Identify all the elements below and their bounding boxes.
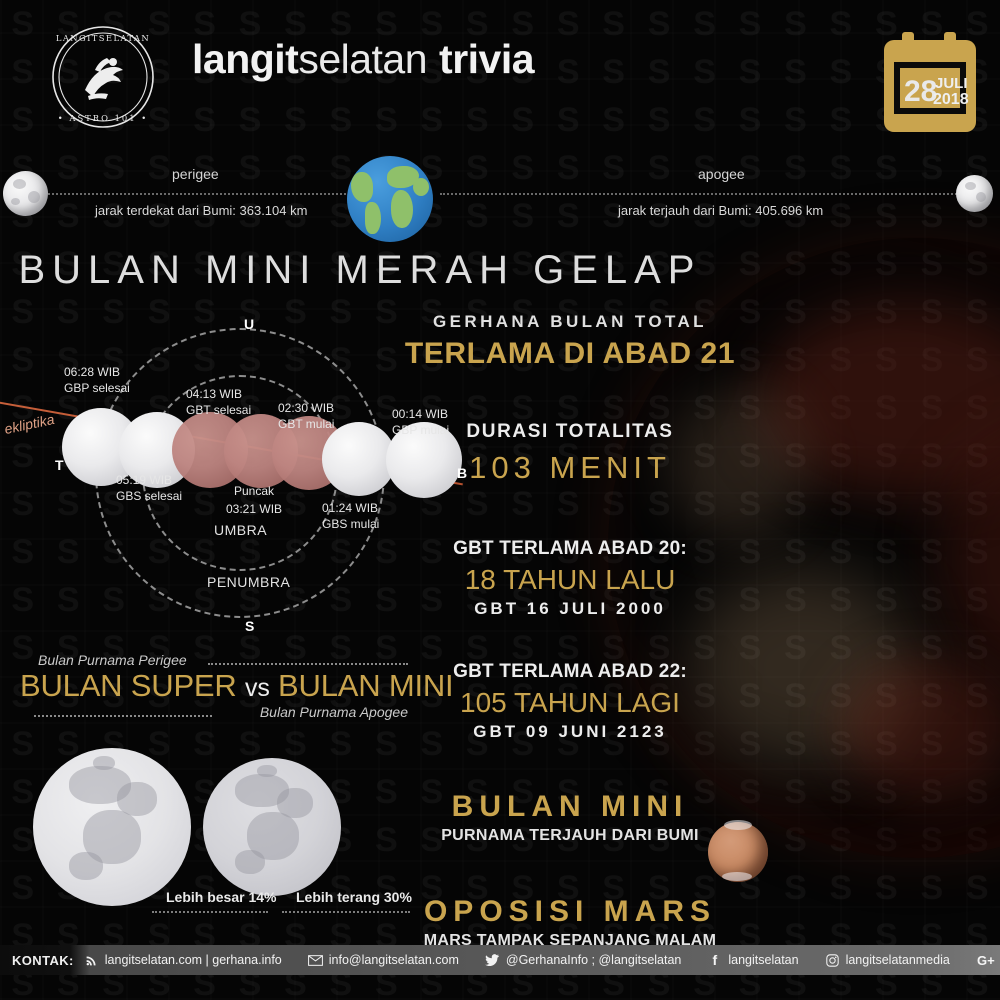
main-headline: BULAN MINI MERAH GELAP [0,248,720,293]
apogee-label: apogee [698,166,745,182]
fact-mini-moon: BULAN MINI PURNAMA TERJAUH DARI BUMI [400,790,740,845]
moon-icon-apogee [956,175,993,212]
title-bold: langit [192,36,298,82]
title-light: selatan [298,36,427,82]
header: LANGITSELATAN • ASTRO 101 • langitselata… [0,0,1000,150]
caption-gbs-selesai: 05:19 WIB GBS selesai [116,472,182,504]
supermoon-disc [33,748,191,906]
footer-facebook-text: langitselatan [728,953,798,967]
apogee-distance: jarak terjauh dari Bumi: 405.696 km [618,203,823,218]
svg-text:• ASTRO 101 •: • ASTRO 101 • [58,113,148,123]
time-gbs-selesai: 05:19 WIB [116,472,182,488]
fact5-sub: PURNAMA TERJAUH DARI BUMI [400,827,740,845]
kontak-label: KONTAK: [0,953,74,968]
super-vs-mini-section: Bulan Purnama Perigee BULAN SUPER vs BUL… [20,652,420,720]
caption-dash-top [208,663,408,665]
caption-gbp-selesai: 06:28 WIB GBP selesai [64,364,130,396]
orbit-line-right [440,193,960,195]
instagram-icon [825,954,840,967]
footer-website-link[interactable]: langitselatan.com | gerhana.info [84,953,282,967]
twitter-icon [485,954,500,967]
axis-label-east: T [55,457,64,473]
orbit-line-left [40,193,370,195]
caption-gbt-mulai: 02:30 WIB GBT mulai [278,400,334,432]
axis-label-north: U [244,316,254,332]
fact-mars-opposition: OPOSISI MARS MARS TAMPAK SEPANJANG MALAM [400,895,740,950]
event-gbs-selesai: GBS selesai [116,488,182,504]
mars-planet-icon [708,822,768,882]
event-gbs-mulai: GBS mulai [322,516,379,532]
fact3-heading: GBT TERLAMA ABAD 20: [400,538,740,560]
footer-instagram-text: langitselatanmedia [846,953,950,967]
page-title: langitselatantrivia [192,36,534,83]
title-trivia: trivia [439,36,534,82]
perigee-distance: jarak terdekat dari Bumi: 363.104 km [95,203,307,218]
time-gbp-selesai: 06:28 WIB [64,364,130,380]
caption-gbt-selesai: 04:13 WIB GBT selesai [186,386,251,418]
fact-century20: GBT TERLAMA ABAD 20: 18 TAHUN LALU GBT 1… [400,538,740,619]
measure-brighter: Lebih terang 30% [296,889,412,905]
event-gbt-mulai: GBT mulai [278,416,334,432]
footer-twitter-link[interactable]: @GerhanaInfo ; @langitselatan [485,953,681,967]
peak-time: 03:21 WIB [226,500,282,518]
caption-dash-bottom [34,715,212,717]
super-vs-mini-title: BULAN SUPER vs BULAN MINI [20,668,420,704]
fact6-value: OPOSISI MARS [400,895,740,929]
measure-line-left [152,911,268,913]
penumbra-label: PENUMBRA [207,574,290,590]
rss-icon [84,954,99,967]
footer-items: langitselatan.com | gerhana.info info@la… [74,953,1000,967]
fact1-value: TERLAMA DI ABAD 21 [400,337,740,371]
email-icon [308,954,323,967]
fact1-heading: GERHANA BULAN TOTAL [400,312,740,332]
footer-instagram-link[interactable]: langitselatanmedia [825,953,950,967]
footer-email-text: info@langitselatan.com [329,953,459,967]
axis-label-south: S [245,618,254,634]
title-vs: vs [245,674,270,702]
footer-website-text: langitselatan.com | gerhana.info [105,953,282,967]
title-bulan-super: BULAN SUPER [20,668,237,703]
footer-googleplus-link[interactable]: G+ LangitselatanMedia [976,953,1000,967]
fact2-value: 103 MENIT [400,450,740,486]
minimoon-disc [203,758,341,896]
fact-longest-eclipse: GERHANA BULAN TOTAL TERLAMA DI ABAD 21 [400,312,740,371]
fact3-value: 18 TAHUN LALU [400,564,740,596]
time-gbs-mulai: 01:24 WIB [322,500,379,516]
calendar-icon: 28 JULI 2018 [880,28,980,136]
fact2-heading: DURASI TOTALITAS [400,421,740,443]
measure-line-right [282,911,410,913]
perigee-label: perigee [172,166,219,182]
minimoon-caption: Bulan Purnama Apogee [20,704,420,720]
phase-moon-gbs-mulai [322,422,396,496]
fact3-date: GBT 16 JULI 2000 [400,599,740,619]
time-gbt-mulai: 02:30 WIB [278,400,334,416]
measure-bigger: Lebih besar 14% [166,889,277,905]
fact5-value: BULAN MINI [400,790,740,824]
facts-column: GERHANA BULAN TOTAL TERLAMA DI ABAD 21 D… [400,312,740,950]
time-gbt-selesai: 04:13 WIB [186,386,251,402]
facebook-icon: f [707,954,722,967]
moon-icon-perigee [3,171,48,216]
svg-text:LANGITSELATAN: LANGITSELATAN [56,33,150,43]
calendar-month: JULI [935,75,968,92]
supermoon-caption: Bulan Purnama Perigee [20,652,420,668]
ecliptic-label: ekliptika [3,411,56,437]
event-gbt-selesai: GBT selesai [186,402,251,418]
fact-duration: DURASI TOTALITAS 103 MENIT [400,421,740,486]
footer-email-link[interactable]: info@langitselatan.com [308,953,459,967]
caption-gbs-mulai: 01:24 WIB GBS mulai [322,500,379,532]
fact4-date: GBT 09 JUNI 2123 [400,722,740,742]
footer-twitter-text: @GerhanaInfo ; @langitselatan [506,953,681,967]
contact-footer: KONTAK: langitselatan.com | gerhana.info… [0,945,1000,975]
earth-globe-icon [347,156,433,242]
title-bulan-mini: BULAN MINI [278,668,453,703]
googleplus-icon: G+ [976,954,996,967]
caption-puncak: Puncak 03:21 WIB [226,482,282,518]
footer-facebook-link[interactable]: f langitselatan [707,953,798,967]
calendar-year: 2018 [933,91,969,108]
umbra-label: UMBRA [214,522,267,538]
event-gbp-selesai: GBP selesai [64,380,130,396]
site-logo: LANGITSELATAN • ASTRO 101 • [33,22,173,132]
peak-label: Puncak [226,482,282,500]
